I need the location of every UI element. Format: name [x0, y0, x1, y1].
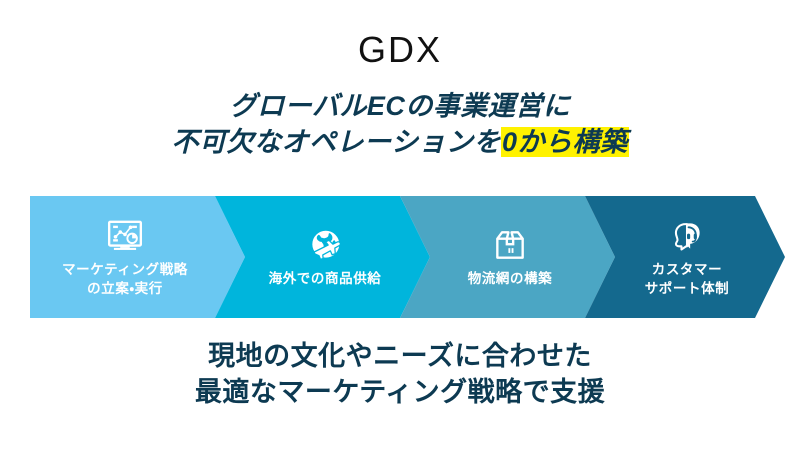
- caption-block: 現地の文化やニーズに合わせた 最適なマーケティング戦略で支援: [0, 338, 800, 410]
- subtitle-line-1: グローバルECの事業運営に: [0, 88, 800, 124]
- process-step-logistics[interactable]: 物流網の構築: [400, 196, 615, 318]
- package-box-icon: [491, 226, 529, 264]
- process-step-marketing[interactable]: マーケティング戦略 の立案・実行: [30, 196, 245, 318]
- page-title: GDX: [0, 28, 800, 72]
- process-step-label: 海外での商品供給: [269, 269, 382, 288]
- process-band: マーケティング戦略 の立案・実行 海外での商品供給: [30, 196, 785, 318]
- caption-line-1: 現地の文化やニーズに合わせた: [0, 338, 800, 374]
- process-step-content: 物流網の構築: [420, 196, 600, 318]
- subtitle-line-2-plain: 不可欠なオペレーションを: [172, 127, 501, 157]
- subtitle-line-2: 不可欠なオペレーションを0から構築: [0, 124, 800, 160]
- customer-support-headset-icon: [668, 217, 706, 255]
- process-step-content: マーケティング戦略 の立案・実行: [30, 196, 220, 318]
- process-step-label: 物流網の構築: [468, 269, 553, 288]
- process-step-content: カスタマー サポート体制: [607, 196, 767, 318]
- process-step-content: 海外での商品供給: [235, 196, 415, 318]
- globe-airplane-icon: [306, 226, 344, 264]
- process-step-label: マーケティング戦略 の立案・実行: [62, 260, 188, 298]
- process-step-label: カスタマー サポート体制: [645, 260, 730, 298]
- subtitle-block: グローバルECの事業運営に 不可欠なオペレーションを0から構築: [0, 88, 800, 160]
- process-step-customer-support[interactable]: カスタマー サポート体制: [585, 196, 785, 318]
- subtitle-highlight: 0から構築: [501, 127, 629, 157]
- process-step-overseas-supply[interactable]: 海外での商品供給: [215, 196, 430, 318]
- slide-canvas: GDX グローバルECの事業運営に 不可欠なオペレーションを0から構築: [0, 0, 800, 450]
- presentation-chart-icon: [106, 217, 144, 255]
- caption-line-2: 最適なマーケティング戦略で支援: [0, 374, 800, 410]
